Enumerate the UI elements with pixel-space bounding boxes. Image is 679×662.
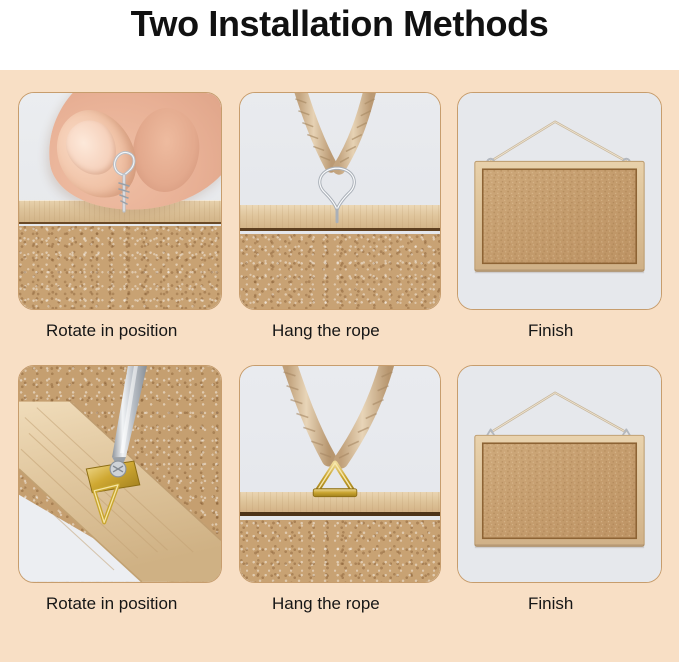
panel-finish-d-ring[interactable]: [457, 365, 662, 583]
caption-hang-the-rope-2: Hang the rope: [272, 593, 452, 615]
rope-through-screw-eye-illustration: [240, 93, 440, 309]
screwdriver-and-d-ring-illustration: [19, 366, 221, 582]
finished-cork-board-illustration: [458, 93, 661, 309]
rope-through-d-ring-illustration: [240, 366, 440, 582]
panel-rotate-in-position-screw-eye[interactable]: [18, 92, 222, 310]
panel-hang-the-rope-screw-eye[interactable]: [239, 92, 441, 310]
caption-rotate-in-position-1: Rotate in position: [46, 320, 226, 342]
finished-cork-board-illustration: [458, 366, 661, 582]
panel-finish-screw-eye[interactable]: [457, 92, 662, 310]
screw-eye-hook-icon: [107, 141, 141, 219]
panel-rotate-in-position-d-ring[interactable]: [18, 365, 222, 583]
method-row-d-ring-hanger: Rotate in position: [0, 365, 679, 635]
method-row-screw-eye-hook: Rotate in position: [0, 92, 679, 362]
caption-finish-1: Finish: [528, 320, 668, 342]
caption-finish-2: Finish: [528, 593, 668, 615]
caption-rotate-in-position-2: Rotate in position: [46, 593, 226, 615]
caption-hang-the-rope-1: Hang the rope: [272, 320, 452, 342]
installation-guide-page: Two Installation Methods: [0, 0, 679, 662]
title-band: Two Installation Methods: [0, 0, 679, 70]
panel-hang-the-rope-d-ring[interactable]: [239, 365, 441, 583]
cork-surface: [19, 226, 221, 309]
content-area: Rotate in position: [0, 70, 679, 662]
page-title: Two Installation Methods: [131, 0, 549, 46]
